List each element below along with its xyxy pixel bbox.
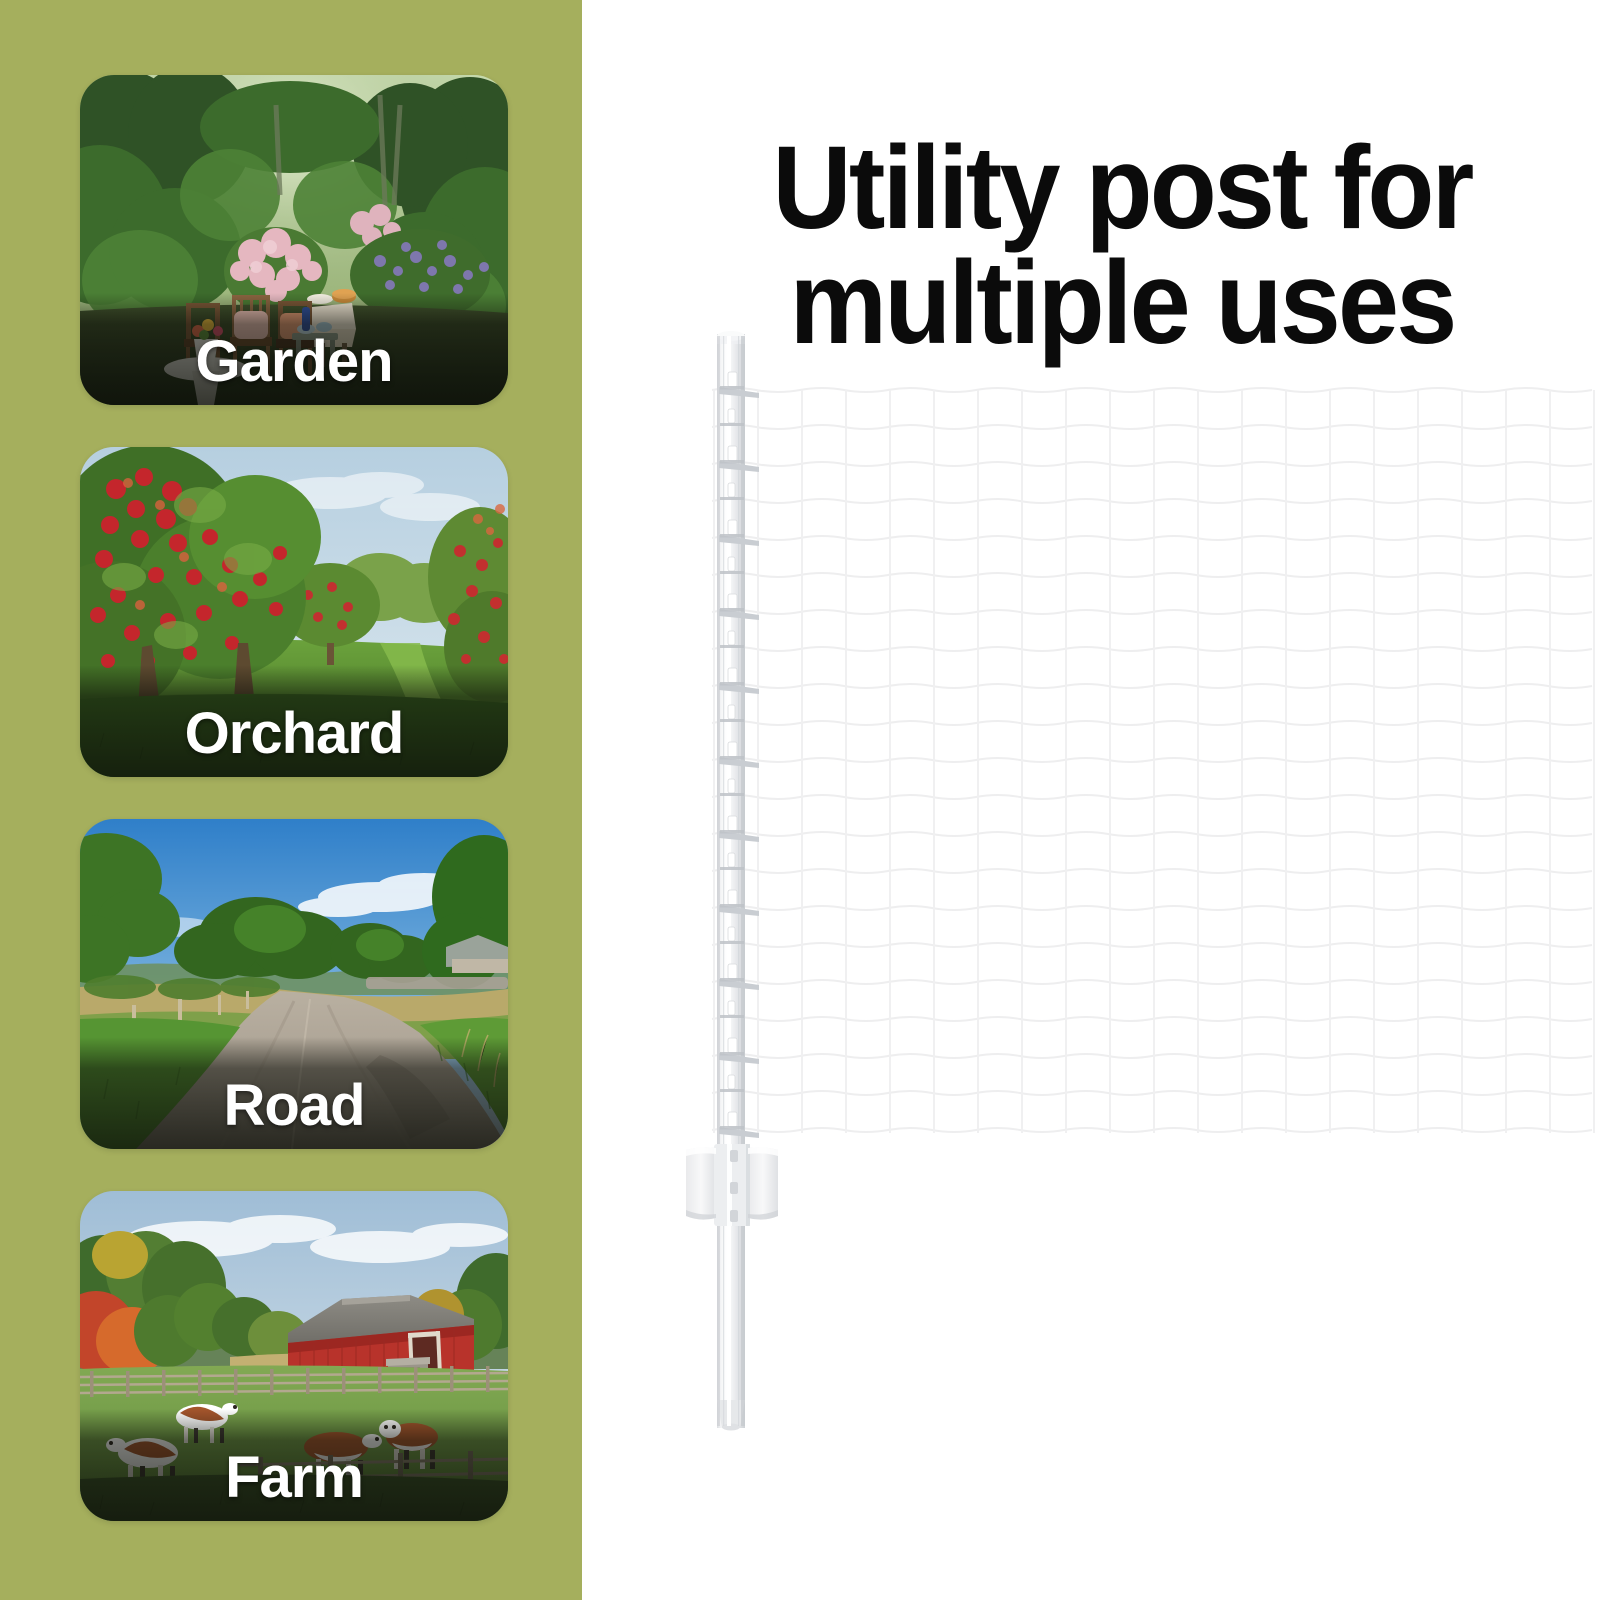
use-case-card-orchard[interactable]: Orchard (80, 447, 508, 777)
use-case-card-farm[interactable]: Farm (80, 1191, 508, 1521)
fence-post (686, 331, 778, 1431)
post-wire-clips (719, 372, 759, 1204)
use-case-label-farm: Farm (80, 1449, 508, 1507)
product-panel: Utility post formultiple uses (582, 0, 1600, 1600)
use-case-label-road: Road (80, 1077, 508, 1135)
use-case-label-garden: Garden (80, 333, 508, 391)
use-case-label-orchard: Orchard (80, 705, 508, 763)
use-case-panel: Garden (0, 0, 582, 1600)
fence-mesh (712, 388, 1594, 1133)
use-case-card-garden[interactable]: Garden (80, 75, 508, 405)
headline-line-2: multiple uses (789, 237, 1454, 369)
headline-line-1: Utility post for (772, 122, 1471, 254)
foot-step-plate (686, 1144, 778, 1226)
use-case-card-road[interactable]: Road (80, 819, 508, 1149)
page-title: Utility post formultiple uses (685, 131, 1559, 360)
infographic-canvas: Garden (0, 0, 1600, 1600)
